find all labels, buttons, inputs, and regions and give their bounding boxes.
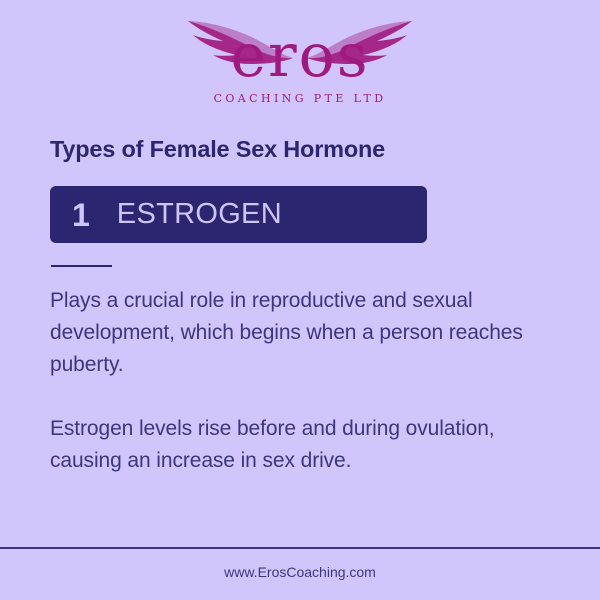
- body-copy: Plays a crucial role in reproductive and…: [50, 285, 560, 477]
- banner-label: ESTROGEN: [117, 199, 282, 230]
- footer-divider: [0, 547, 600, 549]
- page-title: Types of Female Sex Hormone: [50, 134, 385, 164]
- hormone-banner: 1 ESTROGEN: [50, 186, 427, 243]
- infographic-card: eros COACHING PTE LTD Types of Female Se…: [0, 0, 600, 600]
- section-divider: [51, 265, 112, 267]
- brand-logo: eros COACHING PTE LTD: [0, 8, 600, 108]
- body-paragraph: Plays a crucial role in reproductive and…: [50, 285, 560, 381]
- body-paragraph: Estrogen levels rise before and during o…: [50, 413, 560, 477]
- logo-wordmark: eros: [230, 24, 369, 88]
- footer-url: www.ErosCoaching.com: [0, 563, 600, 581]
- banner-number: 1: [72, 198, 90, 232]
- logo-tagline: COACHING PTE LTD: [214, 92, 387, 105]
